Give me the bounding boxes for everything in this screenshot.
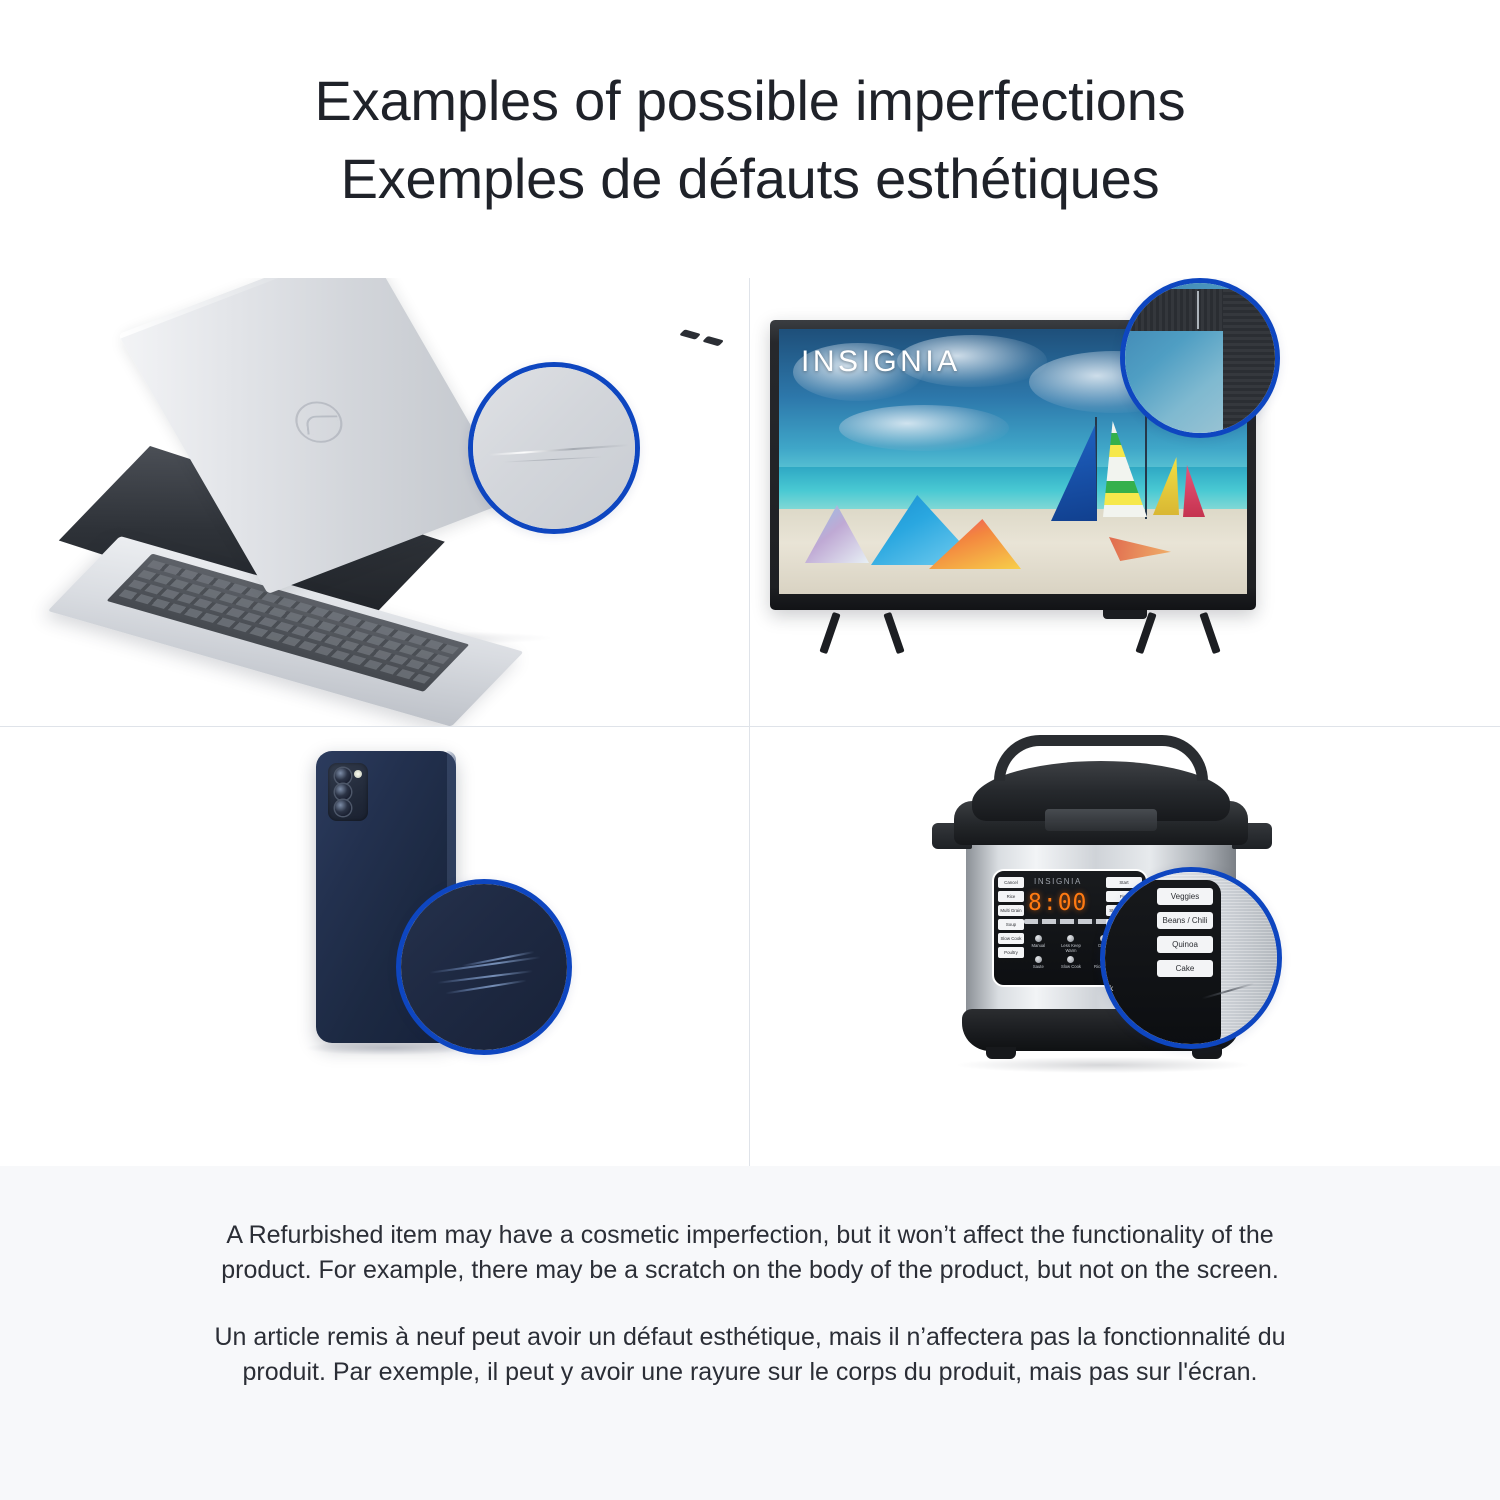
camera-lens-icon	[335, 800, 351, 816]
cooker-zoom-button-column: Veggies Beans / Chili Quinoa Cake	[1157, 888, 1213, 977]
cooker-lid-vent	[1045, 809, 1157, 831]
camera-lens-icon	[335, 784, 351, 800]
examples-grid: INSIGNIA	[0, 278, 1500, 1166]
phone-back-zoom-surface	[401, 884, 567, 1050]
laptop-illustration	[0, 278, 749, 726]
cooker-button[interactable]: Rice	[998, 891, 1024, 902]
cooker-button[interactable]: Soup	[998, 919, 1024, 930]
page-title-en: Examples of possible imperfections	[0, 62, 1500, 140]
laptop-ports	[678, 328, 729, 348]
tv-scratch-mark	[1197, 291, 1199, 329]
cooker-brand-label: INSIGNIA	[1034, 877, 1082, 886]
cooker-button-label: Less Keep Warm	[1061, 943, 1081, 953]
cooker-button[interactable]: Less Keep Warm	[1057, 935, 1086, 953]
cooker-lcd-display: 8:00	[1028, 891, 1094, 915]
cooker-button[interactable]: Poultry	[998, 947, 1024, 958]
example-panel-phone	[0, 727, 749, 1166]
refurbished-imperfections-infographic: Examples of possible imperfections Exemp…	[0, 0, 1500, 1500]
example-panel-tv: INSIGNIA	[750, 278, 1500, 726]
footer-paragraph-en: A Refurbished item may have a cosmetic i…	[178, 1218, 1322, 1288]
laptop-lid-zoom-surface	[473, 367, 635, 529]
cooker-lid-handle	[994, 735, 1208, 781]
cooker-button[interactable]: Multi Grain	[998, 905, 1024, 916]
example-panel-laptop	[0, 278, 749, 726]
tv-illustration: INSIGNIA	[750, 278, 1500, 726]
phone-camera-module	[328, 763, 368, 821]
cooker-zoom-button[interactable]: Quinoa	[1157, 936, 1213, 953]
magnifier-circle-tv	[1120, 278, 1280, 438]
tv-leg	[820, 612, 904, 654]
cooker-button-column-left: Cancel Rice Multi Grain Soup Slow Cook P…	[998, 877, 1024, 958]
cooker-button[interactable]: Slow Cook	[1057, 956, 1086, 969]
magnifier-circle-phone	[396, 879, 572, 1055]
magnifier-circle-cooker: Delay Slow Cook Veggies Beans / Chili Qu…	[1100, 867, 1282, 1049]
cooker-zoom-button[interactable]: Beans / Chili	[1157, 912, 1213, 929]
dell-logo-icon	[293, 401, 345, 443]
cooker-zoom-button[interactable]: Veggies	[1157, 888, 1213, 905]
cooker-panel-zoom: Delay Slow Cook Veggies Beans / Chili Qu…	[1100, 880, 1221, 1048]
tv-leg	[1136, 612, 1220, 654]
footer-paragraph-fr: Un article remis à neuf peut avoir un dé…	[178, 1320, 1322, 1390]
cooker-button[interactable]: Cancel	[998, 877, 1024, 888]
cooker-button[interactable]: Slow Cook	[998, 933, 1024, 944]
cooker-button-label: Slow Cook	[1061, 964, 1081, 969]
pressure-cooker-illustration: INSIGNIA 8:00 Cancel Rice Multi Grain So…	[750, 727, 1500, 1166]
tv-brand-label: INSIGNIA	[801, 345, 961, 379]
cooker-zoom-button[interactable]: Cake	[1157, 960, 1213, 977]
cooker-button-label: Manual	[1031, 943, 1045, 948]
magnifier-circle-laptop	[468, 362, 640, 534]
phone-illustration	[0, 727, 749, 1166]
example-panel-pressure-cooker: INSIGNIA 8:00 Cancel Rice Multi Grain So…	[750, 727, 1500, 1166]
camera-flash-icon	[354, 770, 362, 778]
page-title-fr: Exemples de défauts esthétiques	[0, 140, 1500, 218]
cooker-button[interactable]: Saute	[1024, 956, 1053, 969]
cooker-shadow	[958, 1057, 1248, 1073]
footer-description: A Refurbished item may have a cosmetic i…	[0, 1166, 1500, 1500]
camera-lens-icon	[335, 768, 351, 784]
cooker-button[interactable]: Manual	[1024, 935, 1053, 953]
tv-bezel-zoom-right	[1223, 289, 1279, 438]
cooker-button-label: Saute	[1033, 964, 1044, 969]
cooker-foot	[986, 1047, 1016, 1059]
page-title: Examples of possible imperfections Exemp…	[0, 62, 1500, 218]
